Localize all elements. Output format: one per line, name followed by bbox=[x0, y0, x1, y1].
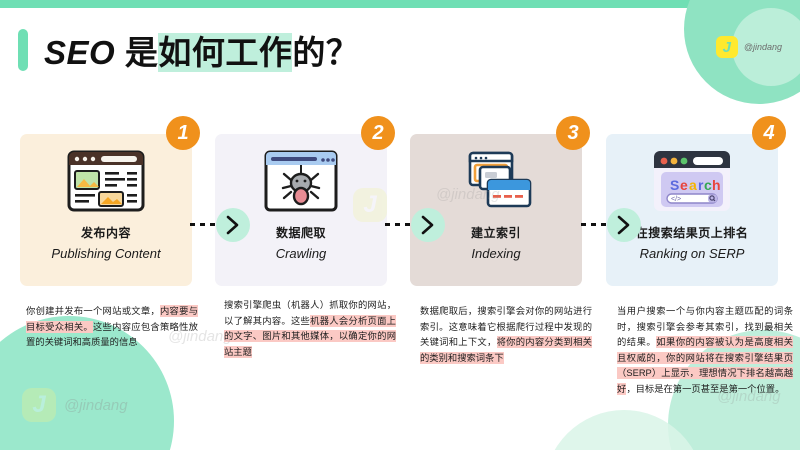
svg-text:h: h bbox=[712, 177, 721, 193]
title-accent-bar bbox=[18, 29, 28, 71]
slide-root: SEO 是如何工作的？ J @jindang 1 bbox=[0, 0, 800, 450]
chevron-right-icon-2 bbox=[421, 215, 435, 235]
svg-text:c: c bbox=[704, 177, 712, 193]
page-title: SEO 是如何工作的？ bbox=[44, 26, 359, 74]
step-description-4: 当用户搜索一个与你内容主题匹配的词条时，搜索引擎会参考其索引，找到最相关的结果。… bbox=[617, 304, 793, 397]
svg-text:e: e bbox=[680, 177, 688, 193]
desc-1-plain-1: 你创建并发布一个网站或文章， bbox=[26, 306, 160, 316]
svg-text:S: S bbox=[670, 177, 679, 193]
flow-arrow-3 bbox=[581, 208, 639, 242]
brand-mark: J @jindang bbox=[716, 36, 782, 58]
page-title-prefix: SEO bbox=[44, 34, 125, 71]
spider-crawler-icon bbox=[264, 148, 338, 214]
page-title-cn-plain: 是 bbox=[125, 34, 159, 71]
step-label-cn-4: 在搜索结果页上排名 bbox=[636, 224, 749, 241]
step-description-2: 搜索引擎爬虫（机器人）抓取你的网站，以了解其内容。这些机器人会分析页面上的文字、… bbox=[224, 298, 396, 360]
step-description-1: 你创建并发布一个网站或文章，内容要与目标受众相关。这些内容应包含策略性放置的关键… bbox=[26, 304, 198, 351]
step-label-en-1: Publishing Content bbox=[51, 246, 160, 261]
svg-text:</>: </> bbox=[671, 196, 681, 203]
step-description-3: 数据爬取后，搜索引擎会对你的网站进行索引。这意味着它根据爬行过程中发现的关键词和… bbox=[420, 304, 592, 366]
steps-row: 1 bbox=[0, 126, 800, 281]
browser-article-icon bbox=[67, 148, 145, 214]
chevron-right-icon-3 bbox=[617, 215, 631, 235]
step-label-en-3: Indexing bbox=[471, 246, 520, 261]
step-label-cn-3: 建立索引 bbox=[471, 224, 521, 241]
step-label-en-2: Crawling bbox=[276, 246, 327, 261]
brand-logo-icon: J bbox=[716, 36, 738, 58]
page-title-cn-highlight: 如何工作 bbox=[158, 33, 292, 72]
step-label-cn-1: 发布内容 bbox=[81, 224, 131, 241]
top-accent-band bbox=[0, 0, 800, 8]
step-badge-3: 3 bbox=[556, 116, 590, 150]
svg-text:a: a bbox=[689, 177, 697, 193]
desc-4-plain-2: ，目标是在第一页甚至是第一个位置。 bbox=[626, 384, 784, 394]
page-header: SEO 是如何工作的？ bbox=[18, 26, 359, 74]
step-badge-2: 2 bbox=[361, 116, 395, 150]
step-badge-4: 4 bbox=[752, 116, 786, 150]
stacked-cards-icon bbox=[458, 148, 534, 214]
brand-logo-letter: J bbox=[716, 36, 738, 58]
step-label-cn-2: 数据爬取 bbox=[276, 224, 326, 241]
flow-arrow-2 bbox=[385, 208, 443, 242]
step-badge-1: 1 bbox=[166, 116, 200, 150]
step-label-en-4: Ranking on SERP bbox=[640, 246, 745, 261]
page-title-cn-suffix: 的？ bbox=[292, 34, 359, 71]
search-window-icon: S e a r c h </> bbox=[651, 148, 733, 214]
chevron-right-icon-1 bbox=[226, 215, 240, 235]
flow-arrow-1 bbox=[190, 208, 248, 242]
step-card-publishing[interactable]: 1 bbox=[20, 134, 192, 286]
brand-handle: @jindang bbox=[744, 42, 782, 52]
